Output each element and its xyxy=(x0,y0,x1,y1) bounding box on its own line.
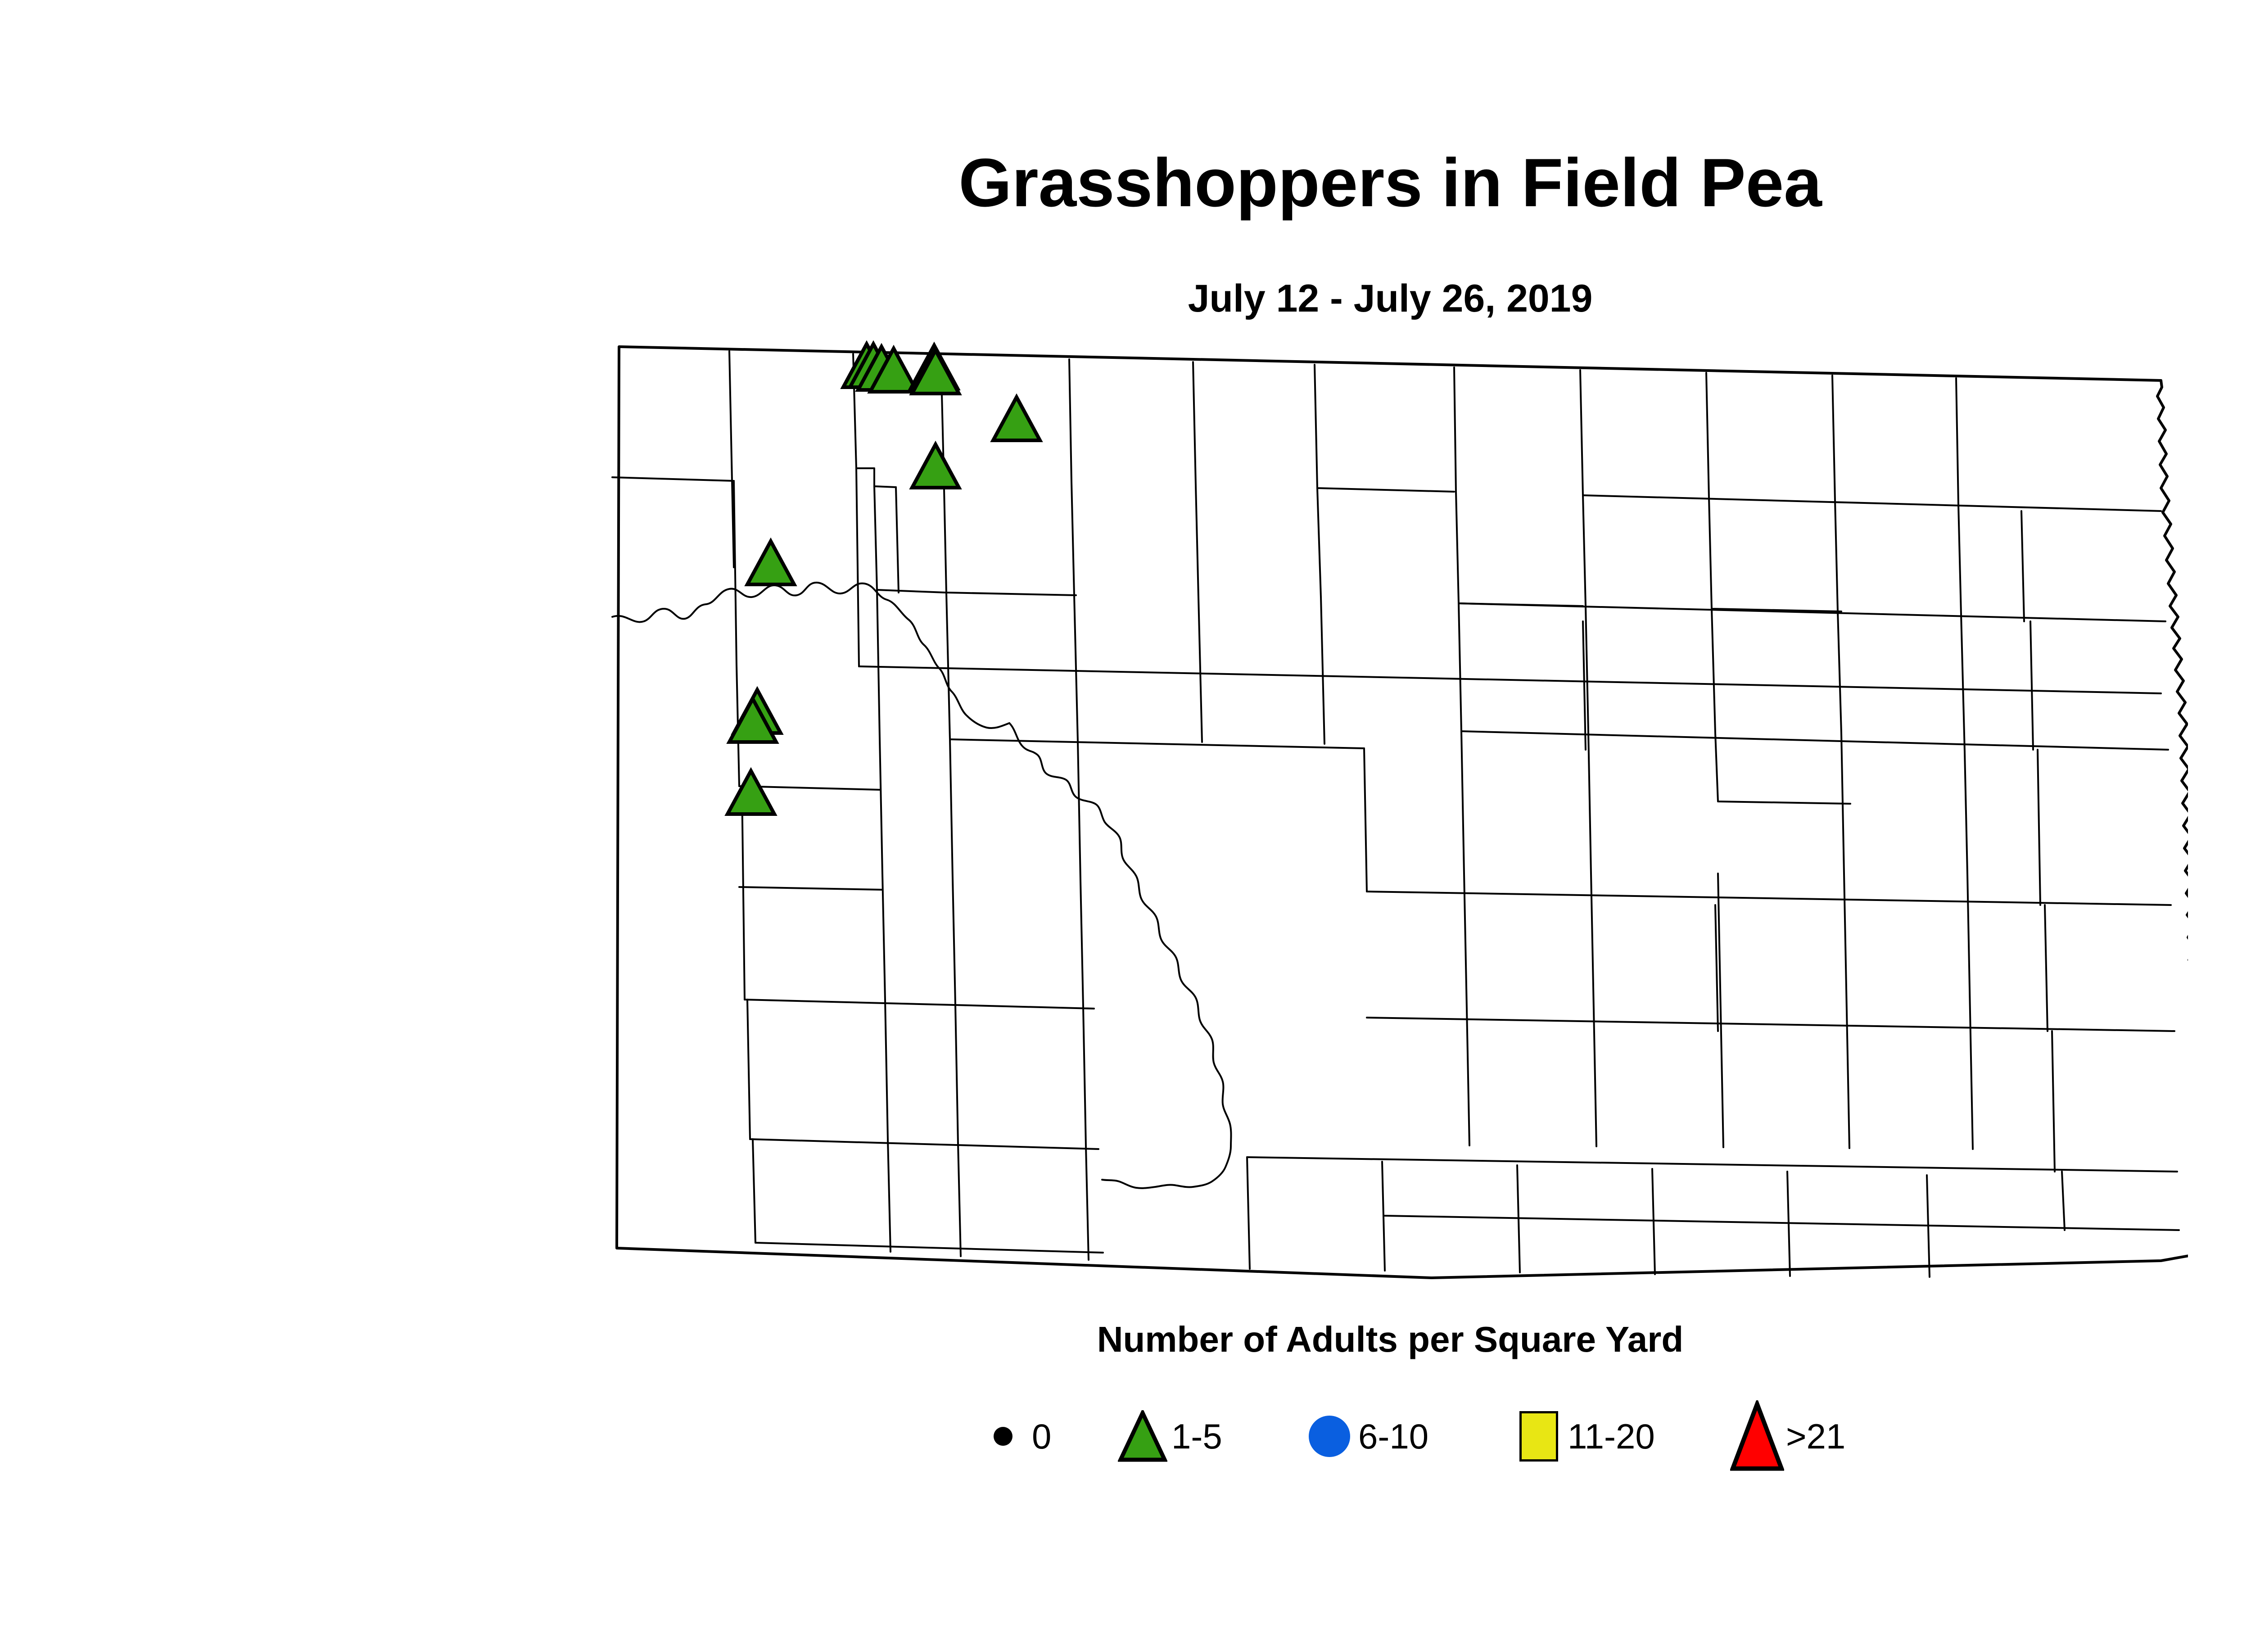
county-line-r2e xyxy=(1196,485,1198,597)
row7-line-w1 xyxy=(753,1139,755,1243)
missouri-river xyxy=(1009,723,1231,1188)
county-line-e2 xyxy=(2030,621,2033,750)
legend-green-triangle-icon xyxy=(1116,1409,1170,1463)
legend-item-6-10[interactable]: 6-10 xyxy=(1302,1394,1428,1479)
county-line-n11 xyxy=(1956,378,1958,504)
row6-east-south xyxy=(1247,1157,2177,1172)
row2-line-1 xyxy=(734,481,737,665)
county-line-r2g xyxy=(1456,492,1583,606)
row4-line-w1 xyxy=(880,738,882,874)
legend-label-6-10: 6-10 xyxy=(1358,1419,1428,1454)
legend-label-1-5: 1-5 xyxy=(1171,1419,1222,1454)
county-line-r3b xyxy=(946,593,950,739)
chart-title-text: Grasshoppers in Field Pea xyxy=(618,149,2162,217)
county-line-r2f xyxy=(1317,488,1321,597)
row7-west-mid xyxy=(755,1243,1103,1253)
county-boundaries xyxy=(612,347,2188,1278)
county-line-r5b xyxy=(953,878,955,1004)
legend-item-11-20[interactable]: 11-20 xyxy=(1512,1394,1655,1479)
county-line-r5f xyxy=(1718,874,1721,1010)
row1-south xyxy=(1583,495,2161,511)
map-marker[interactable] xyxy=(912,444,959,488)
county-line-r2h xyxy=(1583,495,1586,606)
legend-yellow-square-icon xyxy=(1512,1409,1566,1463)
county-line-n5 xyxy=(1193,362,1196,485)
county-line-e1 xyxy=(2021,511,2024,621)
county-line-r3e xyxy=(1321,597,1324,744)
county-line-r4c xyxy=(1364,748,1367,892)
chart-subtitle-text: July 12 - July 26, 2019 xyxy=(618,279,2162,318)
legend-dot-icon xyxy=(976,1409,1030,1463)
row6-line-w1 xyxy=(747,1000,750,1139)
row6-west-south xyxy=(750,1139,1098,1149)
county-line-n1 xyxy=(729,351,734,567)
county-line-r6f xyxy=(1721,1010,1723,1147)
county-line-r4a xyxy=(950,739,953,878)
county-line-r6b xyxy=(955,1004,958,1144)
county-line-n6 xyxy=(1315,365,1454,492)
legend-red-triangle-icon xyxy=(1730,1409,1784,1463)
county-line-r3j xyxy=(1961,614,1965,752)
county-line-r6a xyxy=(885,1000,888,1139)
row2-north-a xyxy=(612,477,734,481)
row2b-south xyxy=(1459,603,2165,621)
county-line-n7 xyxy=(1454,367,1456,492)
county-line-r3a xyxy=(877,590,880,738)
chart-subtitle: July 12 - July 26, 2019 xyxy=(618,279,2162,318)
row7-east-mid xyxy=(1385,1216,2179,1230)
county-line-r2a xyxy=(874,486,945,593)
legend-item-1-5[interactable]: 1-5 xyxy=(1116,1394,1222,1479)
county-line-r4b xyxy=(1078,741,1080,881)
county-line-r6g xyxy=(1847,1011,1849,1148)
legend: 0 1-5 6-10 11-20 >21 xyxy=(618,1394,2162,1479)
county-line-r5g xyxy=(1844,874,1847,1011)
county-line-n4 xyxy=(1069,359,1071,482)
row2-border xyxy=(856,468,859,666)
county-line-e3 xyxy=(2038,750,2040,905)
county-line-n8 xyxy=(1580,370,1583,495)
county-line-r2i xyxy=(1709,498,1841,611)
county-line-r4d xyxy=(1461,731,1464,874)
county-line-r3i xyxy=(1838,611,1841,733)
county-line-r4f xyxy=(1715,733,1850,804)
county-line-r7d xyxy=(1247,1157,1250,1269)
row5-north-w xyxy=(739,887,882,890)
county-line-r5c xyxy=(1080,881,1083,1007)
north-dakota-county-map xyxy=(599,333,2188,1306)
row5-east-south xyxy=(1367,1018,2174,1031)
map-marker[interactable] xyxy=(747,541,794,584)
county-line-r7b xyxy=(958,1144,961,1256)
county-line-e8 xyxy=(1715,905,1718,1031)
legend-item-0[interactable]: 0 xyxy=(976,1394,1051,1479)
row3-east-south xyxy=(1461,731,2168,750)
county-line-n10 xyxy=(1832,376,1835,501)
grasshopper-survey-figure: Grasshoppers in Field Pea July 12 - July… xyxy=(0,0,2251,1652)
county-line-r6h xyxy=(1970,1012,1973,1149)
county-line-e5 xyxy=(2052,1031,2055,1172)
county-line-r7g xyxy=(1652,1169,1655,1274)
row4-east-south xyxy=(1367,892,2171,905)
state-outline xyxy=(617,347,2188,1278)
county-line-r5a xyxy=(882,874,885,1000)
legend-item-over-21[interactable]: >21 xyxy=(1730,1394,1845,1479)
legend-blue-circle-icon xyxy=(1302,1409,1356,1463)
county-line-r7c xyxy=(1086,1146,1089,1260)
county-line-r2k xyxy=(1958,504,1961,614)
county-line-n9 xyxy=(1706,373,1709,498)
county-line-r2j xyxy=(1835,501,1838,611)
map-marker[interactable] xyxy=(728,771,774,814)
legend-title: Number of Adults per Square Yard xyxy=(618,1322,2162,1358)
county-line-r3f xyxy=(1459,603,1461,731)
row2-south xyxy=(859,666,2161,693)
county-line-r3h xyxy=(1712,609,1715,733)
chart-title: Grasshoppers in Field Pea xyxy=(618,149,2162,217)
legend-title-text: Number of Adults per Square Yard xyxy=(618,1322,2162,1358)
legend-label-11-20: 11-20 xyxy=(1568,1419,1655,1454)
county-line-e6 xyxy=(2062,1172,2065,1230)
row5-west-south xyxy=(745,1000,1094,1009)
county-line-r2c xyxy=(944,468,1076,595)
county-line-r6e xyxy=(1594,1009,1596,1146)
county-line-r4h xyxy=(1965,752,1967,874)
data-markers-layer xyxy=(728,344,1040,814)
county-line-r7a xyxy=(888,1139,890,1252)
county-line-r2d xyxy=(1071,482,1074,595)
map-marker[interactable] xyxy=(993,397,1040,440)
county-line-r3c xyxy=(1074,595,1078,741)
county-line-r6c xyxy=(1083,1007,1086,1146)
county-line-r2b xyxy=(896,487,899,593)
county-line-e4 xyxy=(2045,905,2048,1031)
row5-line-w0 xyxy=(742,786,745,1000)
county-line-e7 xyxy=(1583,621,1586,750)
county-line-r5e xyxy=(1591,874,1594,1009)
map-svg xyxy=(599,333,2188,1306)
legend-label-over-21: >21 xyxy=(1786,1419,1845,1454)
row3-bnd-e xyxy=(950,739,1364,748)
county-line-r3d xyxy=(1198,597,1202,742)
county-line-r4e xyxy=(1588,731,1591,874)
county-line-r3g xyxy=(1586,606,1588,731)
legend-label-0: 0 xyxy=(1032,1419,1051,1454)
county-line-r6d xyxy=(1467,1009,1469,1145)
county-line-r5h xyxy=(1967,874,1970,1012)
